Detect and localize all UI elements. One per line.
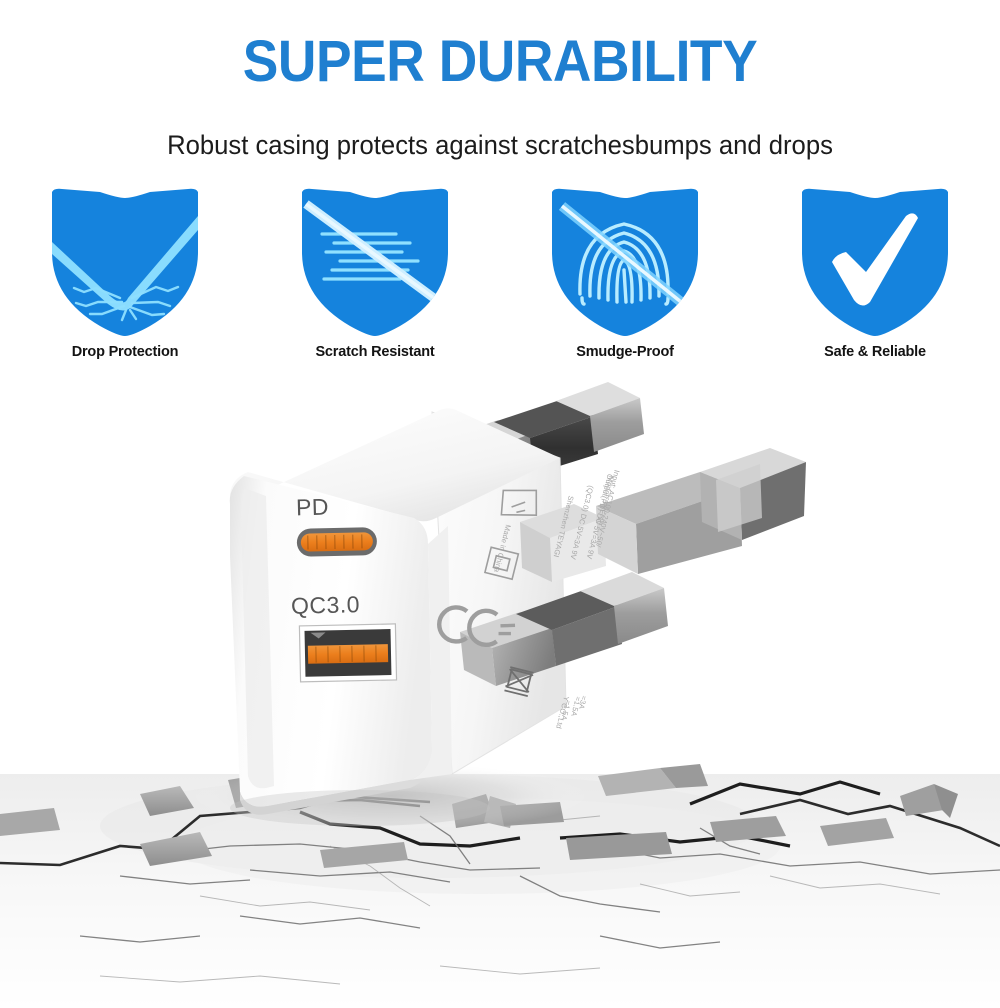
shield-drop-impact-icon	[40, 186, 210, 338]
shield-checkmark-icon	[790, 186, 960, 338]
feature-item-safe-reliable: Safe & Reliable	[775, 186, 975, 360]
usb-c-port-label: PD	[296, 494, 330, 522]
page-title: SUPER DURABILITY	[40, 33, 960, 91]
usb-c-port	[297, 527, 378, 557]
cracked-floor	[0, 762, 1000, 1008]
feature-list: Drop Protection	[0, 186, 1000, 376]
feature-item-scratch-resistant: Scratch Resistant	[275, 186, 475, 360]
shield-scratch-lines-icon	[290, 186, 460, 338]
usb-a-port-label: QC3.0	[291, 591, 361, 620]
usb-a-port	[299, 624, 396, 682]
feature-label: Safe & Reliable	[824, 344, 926, 360]
page-subtitle: Robust casing protects against scratches…	[25, 129, 975, 161]
product-infographic: SUPER DURABILITY Robust casing protects …	[0, 0, 1000, 1008]
feature-item-drop-protection: Drop Protection	[25, 186, 225, 360]
feature-label: Drop Protection	[72, 344, 179, 360]
shield-fingerprint-icon	[540, 186, 710, 338]
feature-label: Scratch Resistant	[315, 344, 434, 360]
feature-item-smudge-proof: Smudge-Proof	[525, 186, 725, 360]
feature-label: Smudge-Proof	[576, 344, 674, 360]
charger-body	[230, 408, 566, 814]
product-scene: Model: TYE-10 Input: AC100-240V~50/ Outp…	[0, 376, 1000, 1008]
